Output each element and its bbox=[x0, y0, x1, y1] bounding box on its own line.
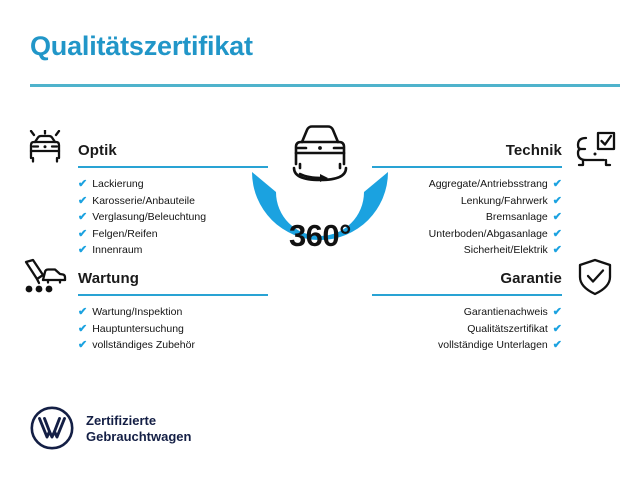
list-item: Aggregate/Antriebsstrang✔ bbox=[372, 176, 562, 193]
list-item-label: Lenkung/Fahrwerk bbox=[461, 195, 548, 207]
list-item: vollständige Unterlagen✔ bbox=[372, 337, 562, 354]
list-item: Garantienachweis✔ bbox=[372, 304, 562, 321]
list-item-label: Sicherheit/Elektrik bbox=[464, 244, 548, 256]
section-garantie: Garantie Garantienachweis✔ Qualitätszert… bbox=[372, 258, 618, 354]
check-icon: ✔ bbox=[78, 209, 87, 226]
list-item-label: vollständiges Zubehör bbox=[92, 339, 195, 351]
section-divider bbox=[78, 166, 268, 168]
section-technik: Technik Aggregate/Antriebsstrang✔ Lenkun… bbox=[372, 130, 618, 259]
section-header: Optik bbox=[22, 130, 268, 176]
section-wartung: Wartung ✔Wartung/Inspektion ✔Hauptunters… bbox=[22, 258, 268, 354]
check-icon: ✔ bbox=[78, 337, 87, 354]
section-header: Garantie bbox=[372, 258, 618, 304]
check-icon: ✔ bbox=[553, 209, 562, 226]
list-item: ✔vollständiges Zubehör bbox=[78, 337, 268, 354]
list-item-label: Aggregate/Antriebsstrang bbox=[429, 178, 548, 190]
section-title: Wartung bbox=[78, 270, 139, 287]
check-icon: ✔ bbox=[78, 321, 87, 338]
check-list-optik: ✔Lackierung ✔Karosserie/Anbauteile ✔Verg… bbox=[78, 176, 268, 259]
car-shine-icon bbox=[22, 130, 68, 172]
check-list-technik: Aggregate/Antriebsstrang✔ Lenkung/Fahrwe… bbox=[372, 176, 562, 259]
vw-wordmark-line2: Gebrauchtwagen bbox=[86, 429, 191, 445]
list-item-label: Garantienachweis bbox=[464, 306, 548, 318]
list-item: Qualitätszertifikat✔ bbox=[372, 321, 562, 338]
car-rotate-icon bbox=[274, 116, 366, 188]
page-title: Qualitätszertifikat bbox=[30, 33, 253, 60]
section-header: Technik bbox=[372, 130, 618, 176]
list-item-label: Innenraum bbox=[92, 244, 142, 256]
check-icon: ✔ bbox=[78, 242, 87, 259]
check-icon: ✔ bbox=[553, 176, 562, 193]
list-item-label: Qualitätszertifikat bbox=[467, 323, 548, 335]
list-item: ✔Lackierung bbox=[78, 176, 268, 193]
list-item-label: Verglasung/Beleuchtung bbox=[92, 211, 206, 223]
title-divider bbox=[30, 84, 620, 87]
vw-logo bbox=[30, 406, 74, 450]
list-item-label: Karosserie/Anbauteile bbox=[92, 195, 195, 207]
list-item: ✔Karosserie/Anbauteile bbox=[78, 193, 268, 210]
section-title: Garantie bbox=[500, 270, 562, 287]
list-item-label: Hauptuntersuchung bbox=[92, 323, 184, 335]
list-item: Bremsanlage✔ bbox=[372, 209, 562, 226]
list-item: ✔Hauptuntersuchung bbox=[78, 321, 268, 338]
check-icon: ✔ bbox=[553, 242, 562, 259]
check-icon: ✔ bbox=[78, 226, 87, 243]
section-optik: Optik ✔Lackierung ✔Karosserie/Anbauteile… bbox=[22, 130, 268, 259]
list-item: ✔Felgen/Reifen bbox=[78, 226, 268, 243]
check-icon: ✔ bbox=[553, 226, 562, 243]
section-divider bbox=[372, 166, 562, 168]
check-list-garantie: Garantienachweis✔ Qualitätszertifikat✔ v… bbox=[372, 304, 562, 354]
list-item-label: Bremsanlage bbox=[486, 211, 548, 223]
vw-wordmark-line1: Zertifizierte bbox=[86, 413, 191, 429]
list-item: ✔Innenraum bbox=[78, 242, 268, 259]
list-item-label: vollständige Unterlagen bbox=[438, 339, 548, 351]
shield-check-icon bbox=[572, 258, 618, 300]
check-icon: ✔ bbox=[553, 321, 562, 338]
car-lift-check-icon bbox=[572, 130, 618, 172]
section-title: Optik bbox=[78, 142, 117, 159]
check-icon: ✔ bbox=[78, 193, 87, 210]
list-item-label: Wartung/Inspektion bbox=[92, 306, 182, 318]
check-icon: ✔ bbox=[78, 176, 87, 193]
check-icon: ✔ bbox=[553, 337, 562, 354]
check-icon: ✔ bbox=[553, 304, 562, 321]
list-item: Unterboden/Abgasanlage✔ bbox=[372, 226, 562, 243]
section-divider bbox=[78, 294, 268, 296]
list-item-label: Unterboden/Abgasanlage bbox=[429, 228, 548, 240]
list-item: Sicherheit/Elektrik✔ bbox=[372, 242, 562, 259]
list-item: Lenkung/Fahrwerk✔ bbox=[372, 193, 562, 210]
list-item-label: Lackierung bbox=[92, 178, 143, 190]
list-item-label: Felgen/Reifen bbox=[92, 228, 157, 240]
pen-car-service-icon bbox=[22, 258, 68, 300]
section-title: Technik bbox=[506, 142, 562, 159]
section-divider bbox=[372, 294, 562, 296]
section-header: Wartung bbox=[22, 258, 268, 304]
vw-wordmark: Zertifizierte Gebrauchtwagen bbox=[86, 413, 191, 445]
check-icon: ✔ bbox=[78, 304, 87, 321]
list-item: ✔Verglasung/Beleuchtung bbox=[78, 209, 268, 226]
check-list-wartung: ✔Wartung/Inspektion ✔Hauptuntersuchung ✔… bbox=[78, 304, 268, 354]
list-item: ✔Wartung/Inspektion bbox=[78, 304, 268, 321]
check-icon: ✔ bbox=[553, 193, 562, 210]
